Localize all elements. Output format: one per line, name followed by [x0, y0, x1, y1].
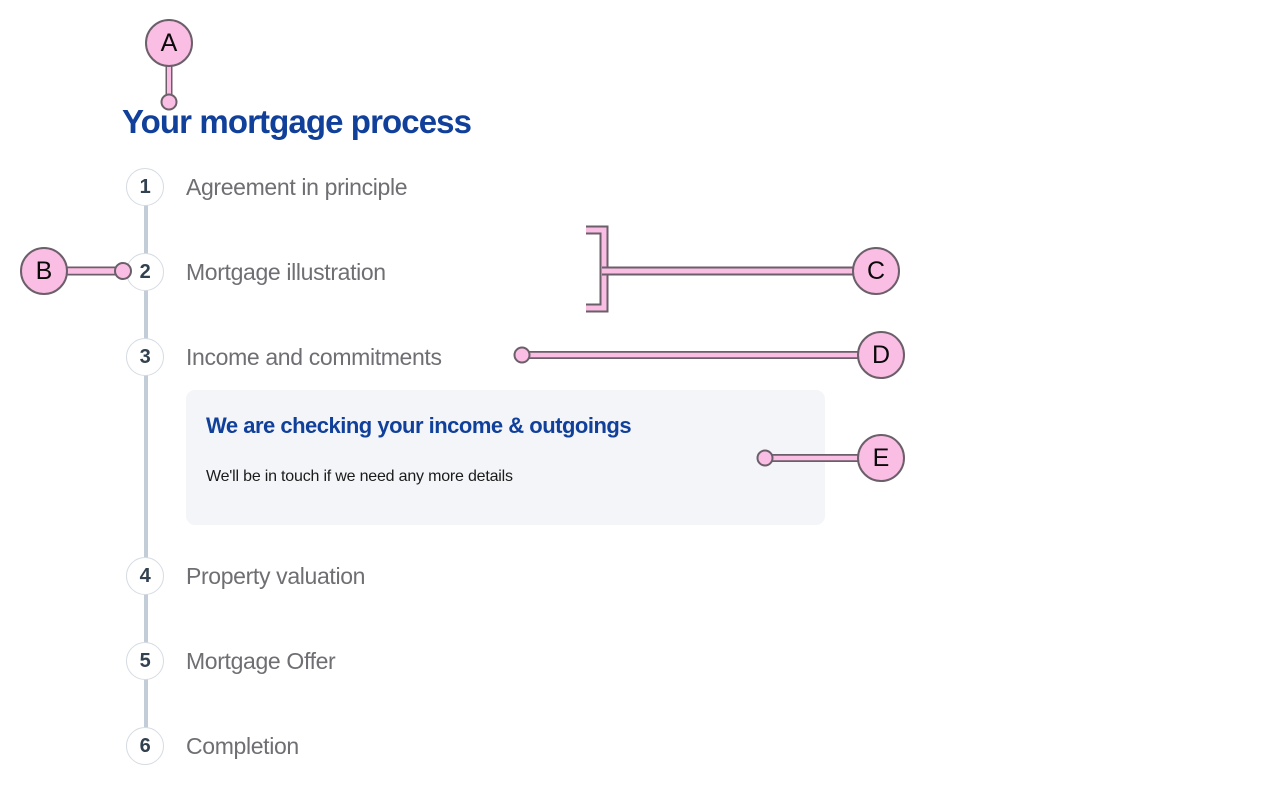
step-row-2[interactable]: 2 Mortgage illustration: [0, 252, 1280, 292]
step-1-label: Agreement in principle: [186, 174, 407, 201]
step-row-5[interactable]: 5 Mortgage Offer: [0, 641, 1280, 681]
step-row-6[interactable]: 6 Completion: [0, 726, 1280, 766]
step-4-number-badge: 4: [126, 557, 164, 595]
step-5-label: Mortgage Offer: [186, 648, 335, 675]
status-card: We are checking your income & outgoings …: [186, 390, 825, 525]
step-3-label: Income and commitments: [186, 344, 442, 371]
mortgage-process-screen: Your mortgage process 1 Agreement in pri…: [0, 0, 1280, 801]
step-row-3[interactable]: 3 Income and commitments: [0, 337, 1280, 377]
step-4-label: Property valuation: [186, 563, 365, 590]
step-row-4[interactable]: 4 Property valuation: [0, 556, 1280, 596]
step-3-number-badge: 3: [126, 338, 164, 376]
step-5-number-badge: 5: [126, 642, 164, 680]
annotation-marker-c[interactable]: C: [852, 247, 900, 295]
step-2-label: Mortgage illustration: [186, 259, 386, 286]
step-6-number-badge: 6: [126, 727, 164, 765]
annotation-marker-d[interactable]: D: [857, 331, 905, 379]
step-6-label: Completion: [186, 733, 299, 760]
page-title: Your mortgage process: [122, 103, 471, 141]
status-card-title: We are checking your income & outgoings: [206, 413, 631, 439]
step-1-number-badge: 1: [126, 168, 164, 206]
step-2-number-badge: 2: [126, 253, 164, 291]
annotation-marker-a[interactable]: A: [145, 19, 193, 67]
step-row-1[interactable]: 1 Agreement in principle: [0, 167, 1280, 207]
annotation-marker-e[interactable]: E: [857, 434, 905, 482]
status-card-subtitle: We'll be in touch if we need any more de…: [206, 468, 513, 486]
annotation-marker-b[interactable]: B: [20, 247, 68, 295]
